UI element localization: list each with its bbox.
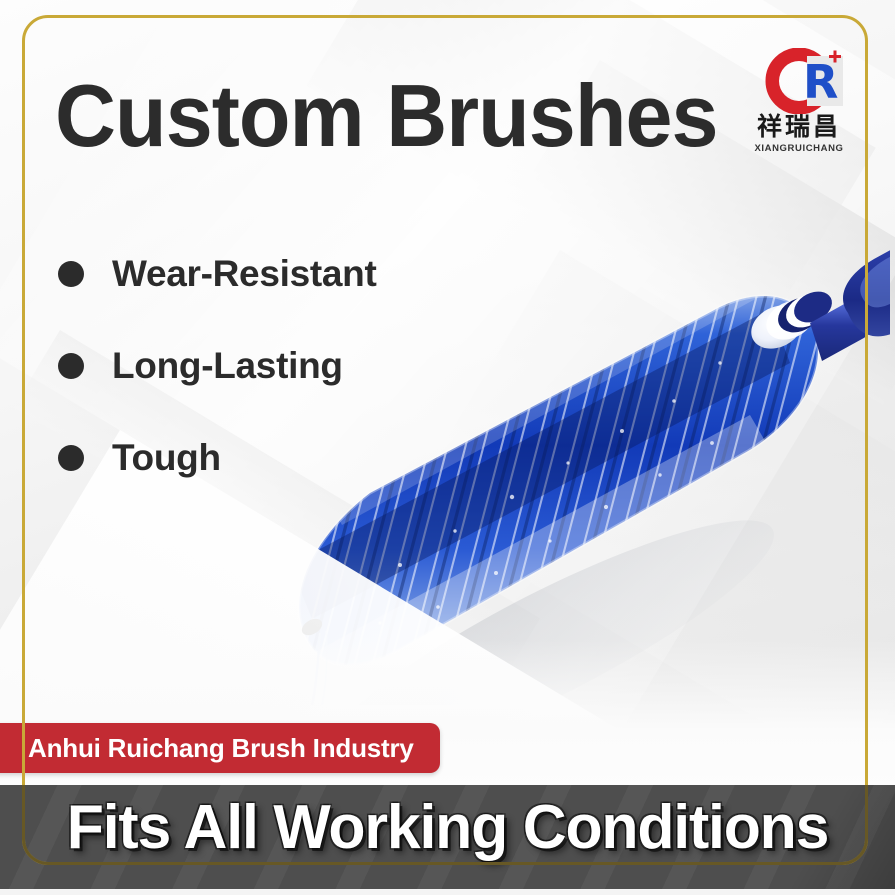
logo-chinese-name: 祥瑞昌 [735, 114, 863, 139]
brand-logo: R 祥瑞昌 XIANGRUICHANG [735, 48, 863, 164]
page-title: Custom Brushes [55, 72, 718, 160]
company-name-banner: Anhui Ruichang Brush Industry [0, 723, 440, 773]
feature-item-tough: Tough [58, 412, 478, 504]
bullet-dot-icon [58, 261, 84, 287]
footer-tagline: Fits All Working Conditions [9, 797, 886, 859]
bullet-dot-icon [58, 353, 84, 379]
logo-mark-icon: R [735, 48, 863, 114]
product-banner: 0 [0, 0, 895, 895]
logo-pinyin: XIANGRUICHANG [735, 143, 863, 154]
feature-item-long-lasting: Long-Lasting [58, 320, 478, 412]
footer-baseline-strip [0, 889, 895, 895]
feature-label: Long-Lasting [112, 345, 343, 387]
feature-label: Wear-Resistant [112, 253, 376, 295]
feature-label: Tough [112, 437, 221, 479]
feature-item-wear-resistant: Wear-Resistant [58, 228, 478, 320]
bullet-dot-icon [58, 445, 84, 471]
svg-text:R: R [803, 55, 838, 109]
footer-bar: Fits All Working Conditions [0, 785, 895, 889]
company-name-text: Anhui Ruichang Brush Industry [28, 733, 414, 764]
feature-list: Wear-Resistant Long-Lasting Tough [58, 228, 478, 504]
